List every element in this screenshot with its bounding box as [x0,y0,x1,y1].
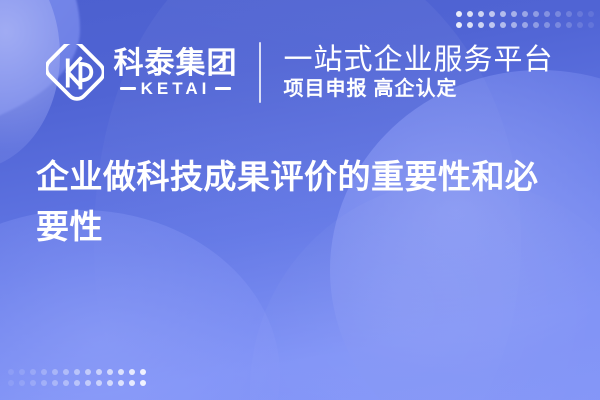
decor-dot [478,11,484,17]
decor-dot [41,380,47,386]
brand-rule-right-icon [215,87,231,90]
decor-dot [41,369,47,375]
decor-dot [63,369,69,375]
decor-dot [478,22,484,28]
decor-dot [8,369,14,375]
tagline-primary: 一站式企业服务平台 [283,44,553,76]
header-divider [259,42,261,103]
brand-rule-left-icon [120,87,136,90]
decor-dot [85,380,91,386]
decor-dot [489,22,495,28]
decor-dot [522,11,528,17]
decor-dot [140,380,146,386]
decor-dot [85,369,91,375]
decor-dot-grid-top-right [456,11,594,28]
decor-dot [107,369,113,375]
decor-dot [511,22,517,28]
decor-dot [588,11,594,17]
decor-dot [566,11,572,17]
decor-dot [467,22,473,28]
decor-dot [456,22,462,28]
brand-name-cn: 科泰集团 [113,48,237,80]
decor-dot [140,369,146,375]
decor-dot [129,369,135,375]
decor-dot [63,380,69,386]
decor-dot-row [456,22,594,28]
decor-dot-row [8,380,146,386]
decor-dot [533,11,539,17]
decor-dot [96,369,102,375]
decor-dot [19,380,25,386]
decor-dot [566,22,572,28]
decor-dot [511,11,517,17]
ketai-diamond-monogram-icon [46,44,104,102]
decor-dot [489,11,495,17]
decor-dot [19,369,25,375]
decor-dot [107,380,113,386]
decor-dot [544,22,550,28]
decor-dot [500,11,506,17]
tagline-secondary: 项目申报 高企认定 [283,78,553,101]
decor-dot [577,22,583,28]
decor-dot-row [8,369,146,375]
decor-dot [555,11,561,17]
tagline-block: 一站式企业服务平台 项目申报 高企认定 [283,44,553,101]
decor-dot [118,380,124,386]
decor-dot-grid-bottom-left [8,369,146,386]
decor-dot [456,11,462,17]
decor-dot [8,380,14,386]
decor-dot [500,22,506,28]
decor-dot [30,380,36,386]
promo-banner: 科泰集团 KETAI 一站式企业服务平台 项目申报 高企认定 企业做科技成果评价… [0,0,600,400]
decor-dot [588,22,594,28]
decor-dot [52,380,58,386]
decor-dot-row [456,11,594,17]
decor-dot [533,22,539,28]
decor-dot [74,369,80,375]
decor-dot [522,22,528,28]
decor-dot [96,380,102,386]
brand-name-en: KETAI [141,80,211,97]
brand-lockup: 科泰集团 KETAI [46,44,237,102]
banner-header: 科泰集团 KETAI 一站式企业服务平台 项目申报 高企认定 [0,42,600,103]
decor-dot [52,369,58,375]
decor-dot [544,11,550,17]
decor-dot [577,11,583,17]
decor-dot [118,369,124,375]
brand-name-en-row: KETAI [113,80,237,97]
decor-dot [30,369,36,375]
decor-dot [129,380,135,386]
decor-dot [74,380,80,386]
headline-title: 企业做科技成果评价的重要性和必要性 [36,152,556,252]
brand-text-block: 科泰集团 KETAI [113,48,237,98]
decor-dot [555,22,561,28]
decor-dot [467,11,473,17]
